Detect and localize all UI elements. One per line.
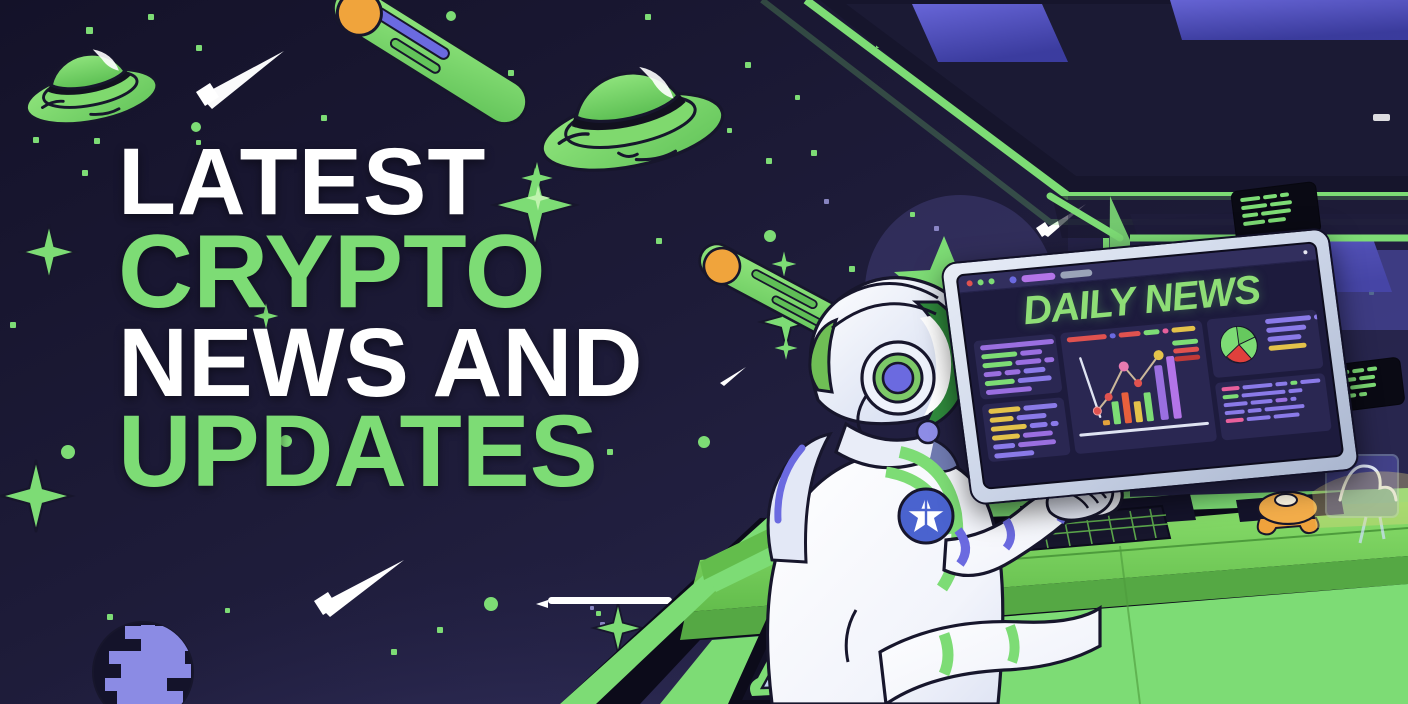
- dashboard-left-column: [973, 334, 1071, 463]
- terminal-bar: [1367, 366, 1377, 371]
- terminal-bar: [1240, 196, 1260, 202]
- text-bar: [1225, 417, 1243, 423]
- text-bar: [1044, 357, 1055, 363]
- terminal-bar: [1359, 375, 1375, 381]
- text-bar: [1247, 407, 1261, 412]
- mission-patch: [899, 489, 953, 543]
- panel-chart[interactable]: [1060, 320, 1217, 454]
- text-bar: [1023, 402, 1058, 410]
- text-bar: [1023, 367, 1046, 374]
- chrome-menu-dot[interactable]: [1303, 250, 1308, 254]
- strip-bar: [1162, 328, 1169, 334]
- terminal-bar: [1352, 368, 1364, 373]
- window-max-dot[interactable]: [988, 278, 995, 285]
- text-bar: [988, 406, 1021, 414]
- chart-right-legend: [1172, 338, 1201, 361]
- strip-bar: [1171, 326, 1196, 333]
- text-bar: [1290, 380, 1297, 385]
- browser-tab-inactive[interactable]: [1060, 269, 1093, 279]
- legend-bar: [1173, 346, 1200, 353]
- text-bar: [1050, 420, 1059, 426]
- text-bar: [1020, 349, 1043, 356]
- terminal-bar: [1280, 192, 1289, 197]
- text-bar: [1290, 396, 1297, 401]
- terminal-bar: [1263, 194, 1277, 200]
- browser-tab-active[interactable]: [1021, 272, 1056, 282]
- computer-monitor[interactable]: DAILY NEWS: [940, 227, 1361, 506]
- bar-series: [1095, 356, 1182, 426]
- tab-favicon: [1009, 276, 1017, 284]
- text-bar: [1275, 397, 1287, 402]
- text-bar: [1222, 393, 1238, 398]
- window-min-dot[interactable]: [977, 279, 984, 286]
- pie-chart: [1213, 320, 1265, 370]
- strip-bar: [1118, 331, 1141, 338]
- panel-left-top[interactable]: [973, 334, 1062, 400]
- strip-bar: [1109, 333, 1116, 339]
- text-bar: [1242, 382, 1272, 389]
- text-bar: [1314, 311, 1324, 320]
- terminal-bar: [1359, 392, 1367, 397]
- text-bar: [1300, 378, 1320, 384]
- text-bar: [1288, 388, 1302, 393]
- text-bar: [1015, 358, 1042, 365]
- window-close-dot[interactable]: [966, 280, 973, 287]
- strip-bar: [1067, 334, 1108, 343]
- panel-right-top-rows: [1265, 311, 1324, 368]
- text-bar: [1275, 381, 1287, 386]
- text-bar: [1004, 369, 1021, 375]
- text-bar: [1221, 385, 1239, 391]
- banner-illustration: DAILY NEWS: [0, 0, 1408, 704]
- monitor-screen[interactable]: DAILY NEWS: [955, 241, 1344, 490]
- panel-left-bottom[interactable]: [981, 397, 1070, 463]
- terminal-bar: [1242, 212, 1258, 218]
- dashboard-right-column: [1206, 309, 1332, 440]
- strip-bar: [1143, 329, 1160, 335]
- terminal-bar: [1268, 217, 1286, 223]
- panel-right-top[interactable]: [1206, 309, 1323, 377]
- text-bar: [983, 371, 1002, 378]
- text-bar: [1265, 315, 1311, 324]
- legend-bar: [1172, 338, 1199, 345]
- text-bar: [1029, 421, 1048, 428]
- panel-right-bottom[interactable]: [1215, 372, 1332, 440]
